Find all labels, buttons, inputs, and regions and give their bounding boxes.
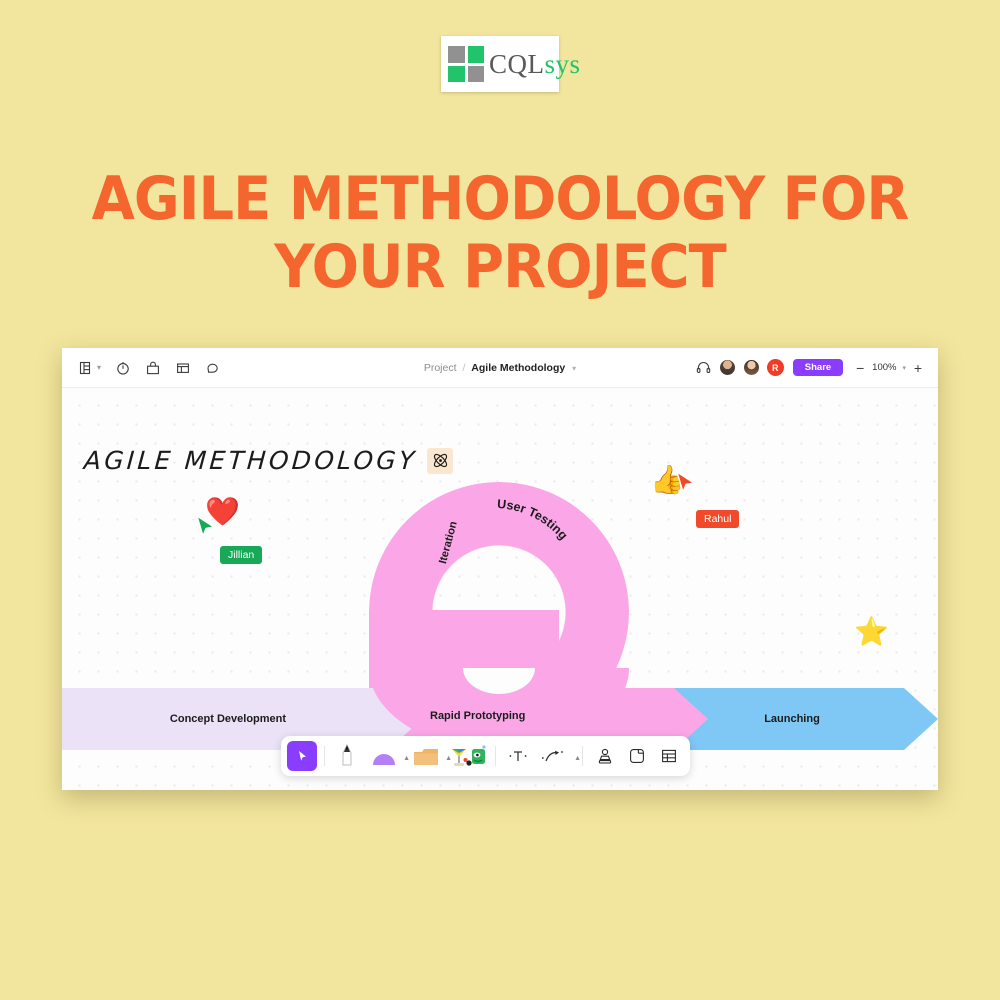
zoom-chevron-down-icon[interactable]: ▾	[902, 364, 906, 372]
breadcrumb-project[interactable]: Project	[424, 362, 457, 374]
toolbar-divider-1	[324, 746, 325, 766]
zoom-level-label[interactable]: 100%	[872, 362, 896, 373]
breadcrumb-chevron-down-icon[interactable]: ▾	[572, 364, 576, 373]
layout-frame-icon[interactable]	[174, 359, 191, 376]
board-menu-icon[interactable]	[76, 359, 93, 376]
toolbar-divider-3	[582, 746, 583, 766]
briefcase-icon[interactable]	[144, 359, 161, 376]
canvas-title[interactable]: AGILE METHODOLOGY	[83, 446, 418, 475]
app-toolbar: ▾	[62, 348, 938, 388]
board-menu-caret-icon[interactable]: ▾	[97, 364, 101, 372]
star-emoji[interactable]: ⭐	[854, 618, 889, 646]
table-tool[interactable]	[654, 741, 684, 771]
connector-tool[interactable]: ▲	[535, 741, 575, 771]
whiteboard-canvas[interactable]: AGILE METHODOLOGY User Testing	[62, 388, 938, 790]
headphones-icon[interactable]	[695, 359, 712, 376]
stickers-tool[interactable]	[448, 741, 488, 771]
creation-toolbar: ▲ ▲	[281, 736, 690, 776]
headline-line-2: YOUR PROJECT	[91, 233, 909, 301]
donut-label-rapid-prototyping: Rapid Prototyping	[430, 710, 525, 722]
stamp-tool[interactable]	[590, 741, 620, 771]
banner-segment-launching[interactable]: Launching	[674, 688, 938, 750]
breadcrumb-current-board[interactable]: Agile Methodology	[471, 362, 565, 374]
brand-text-secondary: sys	[545, 49, 581, 79]
zoom-control: − 100% ▾ +	[854, 361, 924, 375]
toolbar-divider-2	[495, 746, 496, 766]
logo-square-top-left	[448, 46, 465, 63]
cursor-label-jillian: Jillian	[220, 546, 262, 564]
select-cursor-tool[interactable]	[287, 741, 317, 771]
timer-icon[interactable]	[114, 359, 131, 376]
connector-chevron-up-icon[interactable]: ▲	[574, 755, 581, 762]
pen-tool[interactable]	[332, 741, 362, 771]
cursor-label-rahul: Rahul	[696, 510, 739, 528]
frame-tool[interactable]	[622, 741, 652, 771]
logo-square-bottom-right	[468, 66, 485, 83]
toolbar-left-group: ▾	[76, 359, 221, 376]
atom-icon[interactable]	[427, 448, 453, 474]
avatar-user-1[interactable]	[719, 359, 736, 376]
avatar-user-2[interactable]	[743, 359, 760, 376]
zoom-out-button[interactable]: −	[854, 361, 866, 375]
text-tool[interactable]	[503, 741, 533, 771]
brand-logo: CQLsys	[441, 36, 559, 92]
logo-square-top-right	[468, 46, 485, 63]
shapes-tool[interactable]: ▲	[364, 741, 404, 771]
brand-text-primary: CQL	[489, 49, 545, 79]
toolbar-right-group: R Share − 100% ▾ +	[695, 359, 924, 377]
brand-wordmark: CQLsys	[489, 51, 581, 78]
cqlsys-logo-mark-icon	[448, 46, 484, 82]
headline-line-1: AGILE METHODOLOGY FOR	[91, 165, 909, 233]
sticky-note-tool[interactable]: ▲	[406, 741, 446, 771]
breadcrumb-separator: /	[462, 362, 465, 374]
whiteboard-app-window: ▾	[62, 348, 938, 790]
zoom-in-button[interactable]: +	[912, 361, 924, 375]
logo-square-bottom-left	[448, 66, 465, 83]
share-button[interactable]: Share	[793, 359, 843, 377]
canvas-title-group: AGILE METHODOLOGY	[84, 446, 453, 475]
comment-icon[interactable]	[204, 359, 221, 376]
svg-text:User Testing: User Testing	[497, 497, 571, 542]
avatar-user-3[interactable]: R	[767, 359, 784, 376]
page-title: AGILE METHODOLOGY FOR YOUR PROJECT	[91, 165, 909, 301]
